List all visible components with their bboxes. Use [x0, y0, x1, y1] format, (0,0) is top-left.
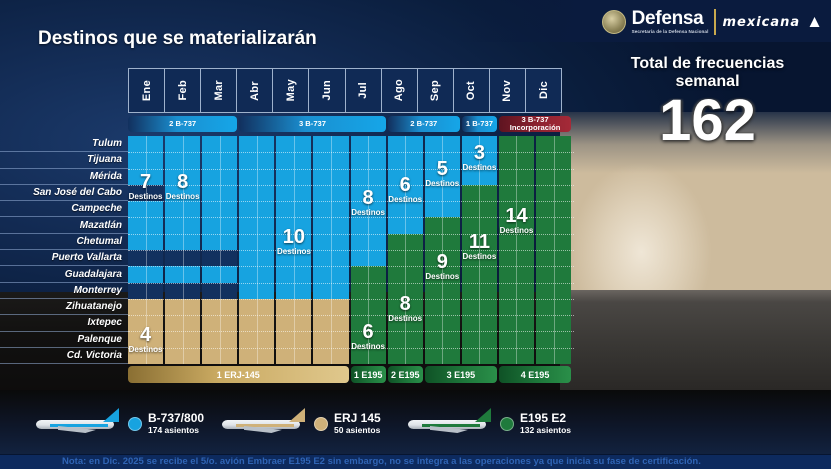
regional-fleet-segment-3: 3 E195 — [425, 366, 497, 383]
page-title: Destinos que se materializarán — [38, 28, 317, 50]
month-label: Sep — [429, 80, 441, 101]
background-road — [560, 290, 831, 390]
month-label: Dic — [538, 81, 550, 99]
destination-row-0: Tulum — [0, 136, 128, 152]
row-separator — [128, 315, 574, 316]
destination-label: Campeche — [71, 203, 122, 214]
row-separator — [128, 169, 574, 170]
month-header-jul: Jul — [345, 68, 382, 113]
destination-label: Puerto Vallarta — [52, 252, 122, 263]
legend-text: E195 E2132 asientos — [520, 412, 571, 436]
national-seal-icon — [602, 10, 626, 34]
regional-fleet-segment-2: 2 E195 — [388, 366, 423, 383]
airplane-erj145-icon — [216, 404, 308, 444]
row-separator — [128, 201, 574, 202]
row-separator — [128, 152, 574, 153]
fleet-segment-1: 3 B-737 — [239, 116, 385, 132]
brand-divider — [714, 9, 716, 35]
row-separator — [128, 283, 574, 284]
legend-text: B-737/800174 asientos — [148, 412, 204, 436]
destination-label: Mazatlán — [80, 220, 122, 231]
fleet-bar-b737: 2 B-7373 B-7372 B-7371 B-7373 B-737 Inco… — [128, 116, 574, 132]
chart-grid: 7Destinos4Destinos8Destinos10Destinos8De… — [128, 136, 574, 364]
destination-row-5: Mazatlán — [0, 217, 128, 233]
month-label: Nov — [501, 80, 513, 102]
legend-item-2: E195 E2132 asientos — [402, 398, 588, 450]
fleet-segment-4: 3 B-737 Incorporación — [499, 116, 571, 132]
month-header-may: May — [272, 68, 309, 113]
month-label: Ago — [393, 79, 405, 101]
destination-label: Zihuatanejo — [66, 301, 122, 312]
row-separator — [128, 217, 574, 218]
kpi-title-line1: Total de frecuencias — [631, 55, 785, 72]
footnote-text: Nota: en Dic. 2025 se recibe el 5/o. avi… — [62, 456, 701, 467]
row-separator — [128, 299, 574, 300]
destination-row-9: Monterrey — [0, 283, 128, 299]
destination-label: San José del Cabo — [33, 187, 122, 198]
row-separator — [128, 250, 574, 251]
regional-fleet-segment-4: 4 E195 — [499, 366, 571, 383]
legend-aircraft-name: ERJ 145 — [334, 412, 381, 426]
destination-label-column: TulumTijuanaMéridaSan José del CaboCampe… — [0, 136, 128, 364]
defensa-subtitle: Secretaría de la Defensa Nacional — [632, 30, 709, 35]
month-label: Abr — [249, 81, 261, 101]
kpi-value: 162 — [590, 93, 825, 148]
month-label: Jul — [357, 82, 369, 99]
fleet-segment-0: 2 B-737 — [128, 116, 237, 132]
destination-label: Palenque — [78, 334, 122, 345]
row-separator — [128, 331, 574, 332]
destination-row-3: San José del Cabo — [0, 185, 128, 201]
destination-row-7: Puerto Vallarta — [0, 250, 128, 266]
month-header-sep: Sep — [417, 68, 454, 113]
destination-row-2: Mérida — [0, 169, 128, 185]
defensa-title: Defensa — [632, 9, 709, 28]
month-header-row: EneFebMarAbrMayJunJulAgoSepOctNovDic — [128, 68, 574, 113]
row-separator — [128, 185, 574, 186]
destination-row-1: Tijuana — [0, 152, 128, 168]
aircraft-legend: B-737/800174 asientosERJ 14550 asientosE… — [30, 398, 590, 450]
legend-item-1: ERJ 14550 asientos — [216, 398, 402, 450]
month-label: Ene — [141, 80, 153, 101]
month-header-mar: Mar — [200, 68, 237, 113]
legend-item-0: B-737/800174 asientos — [30, 398, 216, 450]
month-label: Mar — [213, 80, 225, 100]
row-separator — [128, 266, 574, 267]
footnote-strip: Nota: en Dic. 2025 se recibe el 5/o. avi… — [0, 455, 831, 469]
kpi-title: Total de frecuencias semanal — [590, 55, 825, 91]
destination-row-6: Chetumal — [0, 234, 128, 250]
destination-label: Cd. Victoria — [67, 350, 122, 361]
kpi-total-frequencies: Total de frecuencias semanal 162 — [590, 55, 825, 148]
month-header-feb: Feb — [164, 68, 201, 113]
mexicana-wordmark: mexicana — [722, 15, 800, 30]
fleet-segment-3: 1 B-737 — [462, 116, 497, 132]
destination-row-12: Palenque — [0, 332, 128, 348]
brand-lockup: Defensa Secretaría de la Defensa Naciona… — [602, 5, 823, 39]
row-separator — [128, 234, 574, 235]
month-label: May — [285, 79, 297, 101]
destination-row-11: Ixtepec — [0, 315, 128, 331]
destination-label: Tulum — [92, 138, 122, 149]
destination-label: Guadalajara — [65, 269, 122, 280]
legend-aircraft-name: E195 E2 — [520, 412, 571, 426]
destination-row-13: Cd. Victoria — [0, 348, 128, 364]
month-label: Oct — [465, 81, 477, 100]
destination-row-4: Campeche — [0, 201, 128, 217]
month-header-nov: Nov — [489, 68, 526, 113]
defensa-wordmark: Defensa Secretaría de la Defensa Naciona… — [632, 9, 709, 35]
legend-aircraft-name: B-737/800 — [148, 412, 204, 426]
regional-fleet-segment-1: 1 E195 — [351, 366, 386, 383]
month-label: Feb — [177, 80, 189, 100]
airplane-e195-icon — [402, 404, 494, 444]
month-header-jun: Jun — [308, 68, 345, 113]
destination-label: Monterrey — [74, 285, 122, 296]
destinations-timeline-chart: EneFebMarAbrMayJunJulAgoSepOctNovDic 2 B… — [128, 68, 574, 368]
month-label: Jun — [321, 80, 333, 100]
destination-row-8: Guadalajara — [0, 266, 128, 282]
month-header-oct: Oct — [453, 68, 490, 113]
legend-color-swatch — [314, 417, 328, 431]
legend-color-swatch — [500, 417, 514, 431]
month-header-abr: Abr — [236, 68, 273, 113]
destination-label: Mérida — [90, 171, 122, 182]
mexicana-logo-icon: ▲ — [806, 12, 823, 32]
legend-text: ERJ 14550 asientos — [334, 412, 381, 436]
legend-color-swatch — [128, 417, 142, 431]
month-header-dic: Dic — [525, 68, 562, 113]
destination-label: Chetumal — [76, 236, 122, 247]
legend-aircraft-seats: 132 asientos — [520, 426, 571, 436]
fleet-segment-2: 2 B-737 — [388, 116, 460, 132]
destination-label: Ixtepec — [88, 317, 122, 328]
regional-fleet-segment-0: 1 ERJ-145 — [128, 366, 349, 383]
month-header-ago: Ago — [381, 68, 418, 113]
row-separator — [128, 348, 574, 349]
destination-label: Tijuana — [87, 154, 122, 165]
month-header-ene: Ene — [128, 68, 165, 113]
legend-aircraft-seats: 50 asientos — [334, 426, 381, 436]
destination-row-10: Zihuatanejo — [0, 299, 128, 315]
fleet-bar-regional: 1 ERJ-1451 E1952 E1953 E1954 E195 — [128, 366, 574, 383]
airplane-b737-icon — [30, 404, 122, 444]
legend-aircraft-seats: 174 asientos — [148, 426, 204, 436]
